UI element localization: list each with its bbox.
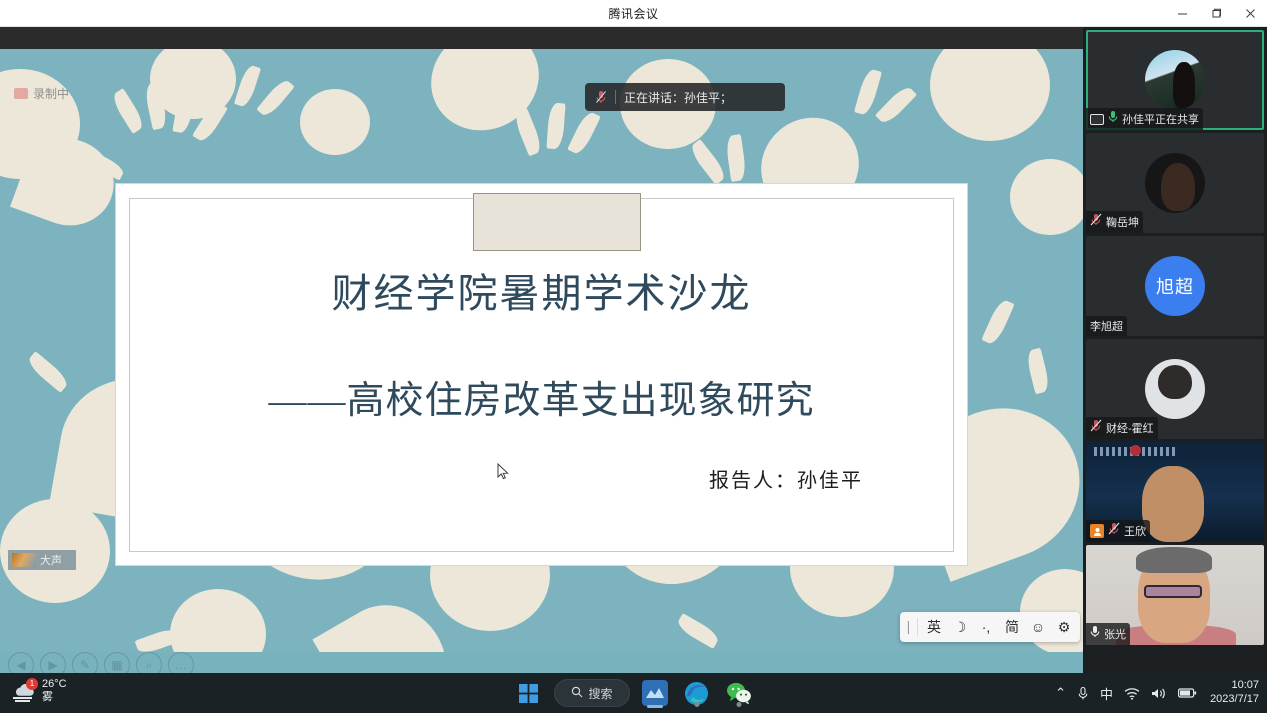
mic-muted-icon xyxy=(1090,213,1102,231)
recording-indicator: 录制中 xyxy=(14,85,69,102)
pen-tool-icon[interactable]: ✎ xyxy=(72,652,98,673)
slide-grid-icon[interactable]: ▦ xyxy=(104,652,130,673)
window-controls xyxy=(1165,0,1267,27)
ime-drag-handle[interactable]: ❘ xyxy=(904,618,913,636)
system-tray[interactable]: ⌃ 中 xyxy=(1055,673,1259,713)
person-silhouette xyxy=(1142,466,1204,542)
start-button[interactable] xyxy=(511,676,545,710)
tray-microphone-icon[interactable] xyxy=(1077,686,1089,701)
slide-image-placeholder xyxy=(473,193,641,251)
participant-footer: 王欣 xyxy=(1086,520,1150,542)
ime-divider xyxy=(917,618,918,636)
tencent-meeting-window: 腾讯会议 xyxy=(0,0,1267,713)
participant-footer: 财经-霍红 xyxy=(1086,417,1158,439)
speaking-label: 正在讲话：孙佳平； xyxy=(624,89,732,106)
slide-title: 财经学院暑期学术沙龙 xyxy=(130,261,953,319)
mic-muted-icon xyxy=(1090,419,1102,437)
clock-widget[interactable]: 10:07 2023/7/17 xyxy=(1210,679,1259,707)
host-badge-icon xyxy=(1090,524,1104,538)
weather-condition: 雾 xyxy=(42,691,67,704)
search-icon xyxy=(570,686,582,701)
next-slide-icon[interactable]: ▶ xyxy=(40,652,66,673)
mini-widget-thumbnail xyxy=(12,553,36,567)
participant-name: 财经-霍红 xyxy=(1106,420,1154,436)
participant-tile-lixuchao[interactable]: 旭超 李旭超 xyxy=(1086,236,1264,336)
tray-overflow-chevron-up-icon[interactable]: ⌃ xyxy=(1055,685,1066,701)
person-hair xyxy=(1136,547,1212,573)
slide-content-frame: 财经学院暑期学术沙龙 ——高校住房改革支出现象研究 报告人：孙佳平 xyxy=(129,198,954,552)
screen-share-icon xyxy=(1090,114,1104,125)
search-placeholder: 搜索 xyxy=(588,685,612,702)
notification-badge: 1 xyxy=(26,678,38,690)
participant-tile-huohong[interactable]: 财经-霍红 xyxy=(1086,339,1264,439)
avatar: 旭超 xyxy=(1145,256,1205,316)
avatar xyxy=(1145,50,1205,110)
participant-tile-sunjiaping[interactable]: 孙佳平正在共享 xyxy=(1086,30,1264,130)
app-xunlei-icon[interactable] xyxy=(638,676,672,710)
moon-icon[interactable]: ☽ xyxy=(948,615,972,639)
participant-footer: 孙佳平正在共享 xyxy=(1086,108,1203,130)
microphone-icon xyxy=(595,90,607,104)
windows-taskbar[interactable]: 1 26°C 雾 xyxy=(0,673,1267,713)
punctuation-mode-button[interactable]: ·, xyxy=(974,615,998,639)
taskbar-center-group: 搜索 xyxy=(511,673,755,713)
participant-name: 李旭超 xyxy=(1090,318,1123,334)
app-active-indicator xyxy=(647,705,663,708)
avatar xyxy=(1145,153,1205,213)
participant-footer: 李旭超 xyxy=(1086,316,1127,336)
ime-language-mode-button[interactable]: 英 xyxy=(922,615,946,639)
window-title: 腾讯会议 xyxy=(0,5,1267,22)
mic-on-icon xyxy=(1108,110,1118,128)
app-running-indicator xyxy=(694,702,699,707)
tray-wifi-icon[interactable] xyxy=(1124,687,1140,700)
mic-on-icon xyxy=(1090,625,1100,643)
tray-battery-icon[interactable] xyxy=(1178,687,1197,699)
fog-cloud-icon: 1 xyxy=(10,679,36,703)
close-button[interactable] xyxy=(1233,0,1267,27)
speaking-indicator: 正在讲话：孙佳平； xyxy=(585,83,785,111)
title-bar: 腾讯会议 xyxy=(0,0,1267,27)
app-running-indicator xyxy=(736,702,741,707)
participant-rail[interactable]: 孙佳平正在共享 鞠岳坤 旭超 李旭超 xyxy=(1083,27,1267,673)
participant-tile-wangxin[interactable]: 王欣 xyxy=(1086,442,1264,542)
mini-widget-label: 大声 xyxy=(40,552,62,568)
participant-name: 孙佳平正在共享 xyxy=(1122,111,1199,127)
participant-tile-zhangguang[interactable]: 张光 xyxy=(1086,545,1264,645)
weather-temperature: 26°C xyxy=(42,678,67,691)
slideshow-controls[interactable]: ◀ ▶ ✎ ▦ ⌕ … xyxy=(8,652,194,673)
weather-widget[interactable]: 1 26°C 雾 xyxy=(10,678,67,703)
participant-name: 鞠岳坤 xyxy=(1106,214,1139,230)
avatar xyxy=(1145,359,1205,419)
emoji-icon[interactable]: ☺ xyxy=(1026,615,1050,639)
powerpoint-slide[interactable]: 财经学院暑期学术沙龙 ——高校住房改革支出现象研究 报告人：孙佳平 xyxy=(116,184,967,565)
weather-text: 26°C 雾 xyxy=(42,678,67,703)
gear-icon[interactable]: ⚙ xyxy=(1052,615,1076,639)
person-glasses xyxy=(1144,585,1202,598)
recording-label: 录制中 xyxy=(33,85,69,102)
app-wechat-icon[interactable] xyxy=(722,676,756,710)
slide-subtitle: ——高校住房改革支出现象研究 xyxy=(130,369,953,424)
record-icon xyxy=(14,88,28,99)
search-box[interactable]: 搜索 xyxy=(553,679,629,707)
slide-presenter: 报告人：孙佳平 xyxy=(709,464,863,493)
shared-desktop-topbar xyxy=(0,27,1083,49)
institution-logo-mark xyxy=(1130,445,1141,456)
minimize-button[interactable] xyxy=(1165,0,1199,27)
tray-volume-icon[interactable] xyxy=(1151,687,1167,700)
tray-ime-indicator[interactable]: 中 xyxy=(1100,684,1113,703)
participant-name: 王欣 xyxy=(1124,523,1146,539)
app-edge-icon[interactable] xyxy=(680,676,714,710)
mouse-cursor-icon xyxy=(497,463,509,480)
zoom-slide-icon[interactable]: ⌕ xyxy=(136,652,162,673)
mic-muted-icon xyxy=(1108,522,1120,540)
participant-footer: 张光 xyxy=(1086,623,1130,645)
floating-mini-widget[interactable]: 大声 xyxy=(8,550,76,570)
maximize-button[interactable] xyxy=(1199,0,1233,27)
clock-time: 10:07 xyxy=(1210,679,1259,693)
ime-toolbar[interactable]: ❘ 英 ☽ ·, 简 ☺ ⚙ xyxy=(900,612,1080,642)
participant-footer: 鞠岳坤 xyxy=(1086,211,1143,233)
participant-tile-juyuekun[interactable]: 鞠岳坤 xyxy=(1086,133,1264,233)
clock-date: 2023/7/17 xyxy=(1210,693,1259,707)
more-options-icon[interactable]: … xyxy=(168,652,194,673)
simplified-chinese-button[interactable]: 简 xyxy=(1000,615,1024,639)
participant-name: 张光 xyxy=(1104,626,1126,642)
shared-screen-stage[interactable]: 录制中 正在讲话：孙佳平； 财经学院暑期学术沙龙 ——高校住房改革支出现象研究 xyxy=(0,27,1083,673)
speaking-divider xyxy=(615,90,616,104)
prev-slide-icon[interactable]: ◀ xyxy=(8,652,34,673)
